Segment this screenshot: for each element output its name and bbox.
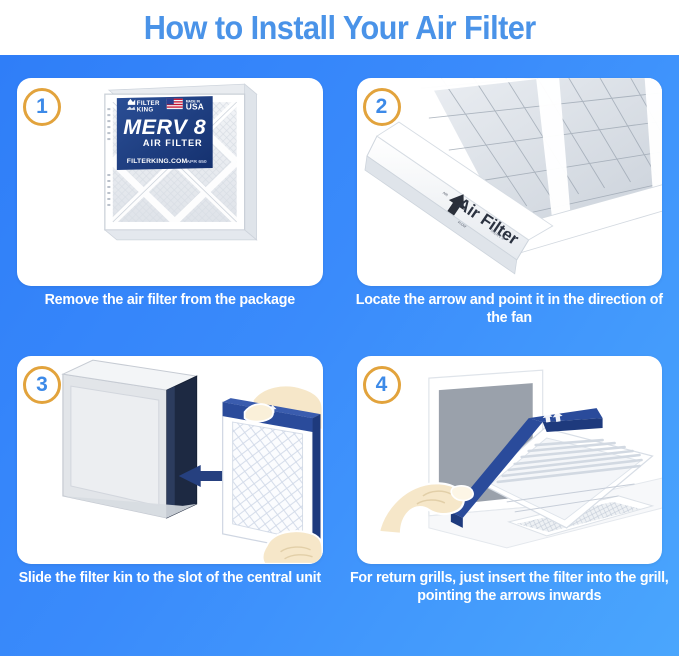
- infographic-page: How to Install Your Air Filter: [0, 0, 679, 656]
- step-badge-3: 3: [23, 366, 61, 404]
- artwork-product-filter: FILTER KING: [17, 78, 323, 286]
- page-title: How to Install Your Air Filter: [144, 9, 536, 47]
- step-card-2: AIR FLOW Air Filter MERV 8 2: [357, 78, 663, 286]
- artwork-slide-into-slot: [17, 356, 323, 564]
- step-badge-2: 2: [363, 88, 401, 126]
- step-card-1: FILTER KING: [17, 78, 323, 286]
- step-badge-1: 1: [23, 88, 61, 126]
- step-caption-1: Remove the air filter from the package: [10, 291, 330, 309]
- svg-text:FILTERKING.COM: FILTERKING.COM: [127, 158, 188, 165]
- step-caption-4: For return grills, just insert the filte…: [350, 569, 670, 605]
- step-caption-2: Locate the arrow and point it in the dir…: [350, 291, 670, 327]
- step-caption-3: Slide the filter kin to the slot of the …: [10, 569, 330, 587]
- title-bar: How to Install Your Air Filter: [0, 0, 679, 55]
- svg-text:APR 650: APR 650: [186, 159, 206, 165]
- svg-text:MERV 8: MERV 8: [123, 115, 206, 139]
- step-cell-3: 3 Slide the filter kin to the slot of th…: [0, 343, 340, 656]
- step-card-4: 4: [357, 356, 663, 564]
- svg-text:AIR FILTER: AIR FILTER: [143, 138, 203, 148]
- artwork-filter-edge-arrow: AIR FLOW Air Filter MERV 8: [357, 78, 663, 286]
- svg-text:USA: USA: [186, 102, 204, 112]
- step-cell-1: FILTER KING: [0, 55, 340, 343]
- steps-grid: FILTER KING: [0, 55, 679, 656]
- svg-text:KING: KING: [137, 107, 154, 114]
- artwork-return-grill-insert: [357, 356, 663, 564]
- step-card-3: 3: [17, 356, 323, 564]
- step-cell-4: 4 For return grills, just insert the fil…: [340, 343, 679, 656]
- step-badge-4: 4: [363, 366, 401, 404]
- step-cell-2: AIR FLOW Air Filter MERV 8 2 Locate the …: [340, 55, 679, 343]
